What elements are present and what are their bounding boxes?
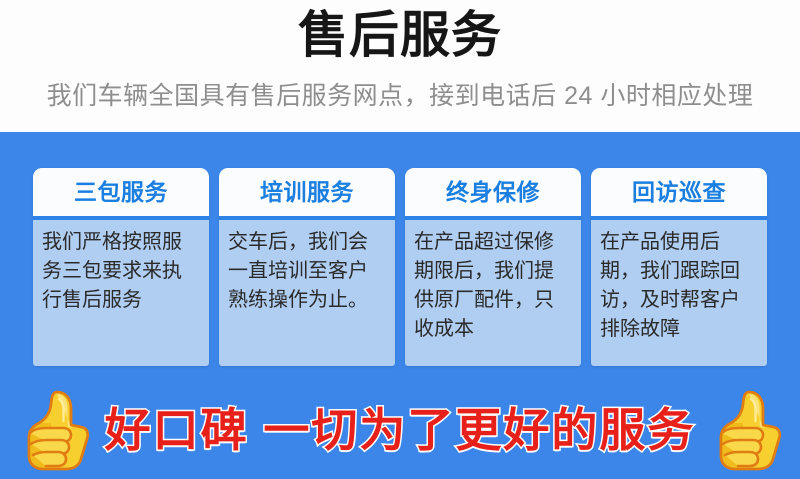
service-card-body: 我们严格按照服务三包要求来执行售后服务 <box>33 220 209 366</box>
service-card-body: 交车后，我们会一直培训至客户熟练操作为止。 <box>219 220 395 366</box>
service-card-header: 回访巡查 <box>591 168 767 216</box>
service-card-title: 终身保修 <box>446 178 540 206</box>
service-card: 培训服务 交车后，我们会一直培训至客户熟练操作为止。 <box>219 168 395 366</box>
after-sales-service-banner: 售后服务 我们车辆全国具有售后服务网点，接到电话后 24 小时相应处理 三包服务… <box>0 0 800 479</box>
slogan-text: 好口碑 一切为了更好的服务 <box>105 402 696 458</box>
service-card: 终身保修 在产品超过保修期限后，我们提供原厂配件，只收成本 <box>405 168 581 366</box>
banner-header: 售后服务 我们车辆全国具有售后服务网点，接到电话后 24 小时相应处理 <box>0 0 800 132</box>
service-section: 三包服务 我们严格按照服务三包要求来执行售后服务 培训服务 交车后，我们会一直培… <box>0 132 800 479</box>
thumbs-up-icon <box>17 387 91 473</box>
service-card-title: 回访巡查 <box>632 178 726 206</box>
service-card-title: 培训服务 <box>260 178 354 206</box>
service-card: 回访巡查 在产品使用后期，我们跟踪回访，及时帮客户排除故障 <box>591 168 767 366</box>
service-card-header: 终身保修 <box>405 168 581 216</box>
thumbs-up-icon <box>709 387 783 473</box>
service-card: 三包服务 我们严格按照服务三包要求来执行售后服务 <box>33 168 209 366</box>
service-card-header: 三包服务 <box>33 168 209 216</box>
service-card-body: 在产品使用后期，我们跟踪回访，及时帮客户排除故障 <box>591 220 767 366</box>
page-subtitle: 我们车辆全国具有售后服务网点，接到电话后 24 小时相应处理 <box>0 76 800 116</box>
slogan-bar: 好口碑 一切为了更好的服务 <box>0 380 800 479</box>
service-card-title: 三包服务 <box>74 178 168 206</box>
service-card-header: 培训服务 <box>219 168 395 216</box>
service-card-body: 在产品超过保修期限后，我们提供原厂配件，只收成本 <box>405 220 581 366</box>
page-title: 售后服务 <box>0 4 800 66</box>
service-card-list: 三包服务 我们严格按照服务三包要求来执行售后服务 培训服务 交车后，我们会一直培… <box>33 168 767 366</box>
